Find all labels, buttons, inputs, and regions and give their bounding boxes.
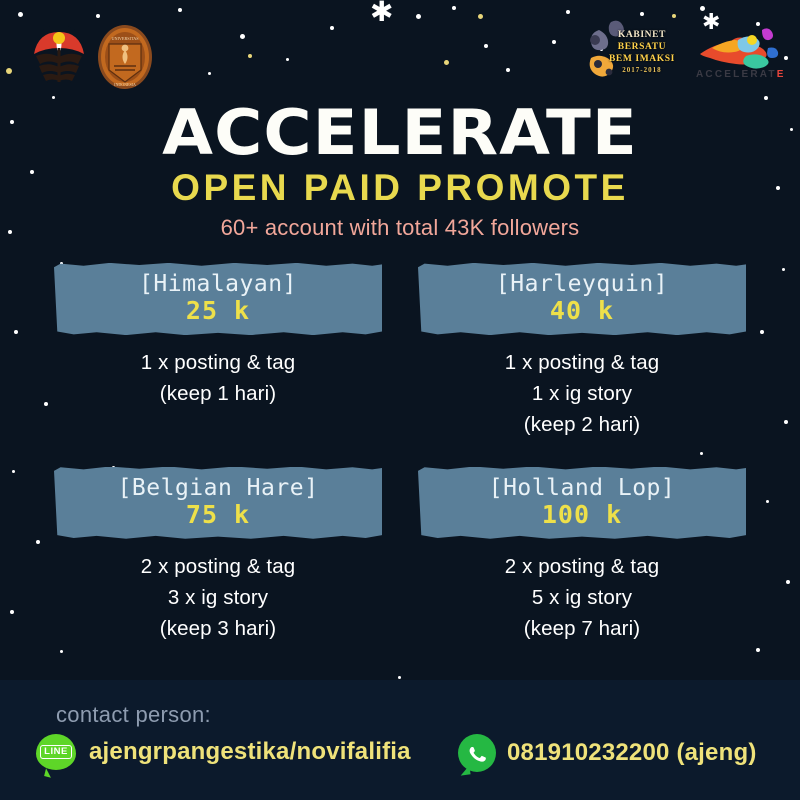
package-feature: 2 x posting & tag [36, 551, 400, 582]
line-icon-label: LINE [40, 745, 72, 759]
line-handle[interactable]: ajengrpangestika/novifalifia [89, 738, 411, 766]
package-feature: (keep 3 hari) [36, 613, 400, 644]
line-icon[interactable]: LINE [36, 734, 76, 770]
package-features: 1 x posting & tag 1 x ig story (keep 2 h… [400, 347, 764, 440]
reach-note: 60+ account with total 43K followers [0, 215, 800, 241]
package-card[interactable]: [Himalayan] 25 k 1 x posting & tag (keep… [36, 263, 400, 441]
whatsapp-number[interactable]: 081910232200 (ajeng) [507, 739, 757, 767]
package-features: 2 x posting & tag 3 x ig story (keep 3 h… [36, 551, 400, 644]
package-feature: 2 x posting & tag [400, 551, 764, 582]
page-subtitle: OPEN PAID PROMOTE [0, 169, 800, 206]
package-feature: (keep 2 hari) [400, 409, 764, 440]
package-feature: 1 x posting & tag [36, 347, 400, 378]
package-grid: [Himalayan] 25 k 1 x posting & tag (keep… [0, 263, 800, 644]
page-title: ACCELERATE [0, 104, 800, 163]
package-feature: (keep 7 hari) [400, 613, 764, 644]
package-price: 75 k [64, 501, 372, 530]
package-banner: [Himalayan] 25 k [54, 263, 382, 335]
package-price: 25 k [64, 297, 372, 326]
package-card[interactable]: [Holland Lop] 100 k 2 x posting & tag 5 … [400, 467, 764, 645]
package-name: [Belgian Hare] [64, 475, 372, 501]
package-features: 1 x posting & tag (keep 1 hari) [36, 347, 400, 409]
package-name: [Himalayan] [64, 271, 372, 297]
package-banner: [Harleyquin] 40 k [418, 263, 746, 335]
package-card[interactable]: [Belgian Hare] 75 k 2 x posting & tag 3 … [36, 467, 400, 645]
whatsapp-contact[interactable]: 081910232200 (ajeng) [458, 734, 757, 772]
title-block: ACCELERATE OPEN PAID PROMOTE 60+ account… [0, 0, 800, 241]
line-contact[interactable]: LINE ajengrpangestika/novifalifia [36, 734, 411, 770]
package-banner: [Belgian Hare] 75 k [54, 467, 382, 539]
package-feature: (keep 1 hari) [36, 378, 400, 409]
promo-poster: ✱ ✱ ✱ ✱ [0, 0, 800, 800]
package-features: 2 x posting & tag 5 x ig story (keep 7 h… [400, 551, 764, 644]
package-price: 40 k [428, 297, 736, 326]
package-name: [Harleyquin] [428, 271, 736, 297]
package-banner: [Holland Lop] 100 k [418, 467, 746, 539]
package-feature: 5 x ig story [400, 582, 764, 613]
contact-person-label: contact person: [56, 702, 211, 728]
package-feature: 1 x posting & tag [400, 347, 764, 378]
package-feature: 3 x ig story [36, 582, 400, 613]
contact-section: contact person: LINE ajengrpangestika/no… [0, 680, 800, 800]
package-card[interactable]: [Harleyquin] 40 k 1 x posting & tag 1 x … [400, 263, 764, 441]
package-name: [Holland Lop] [428, 475, 736, 501]
package-feature: 1 x ig story [400, 378, 764, 409]
whatsapp-icon[interactable] [458, 734, 496, 772]
package-price: 100 k [428, 501, 736, 530]
